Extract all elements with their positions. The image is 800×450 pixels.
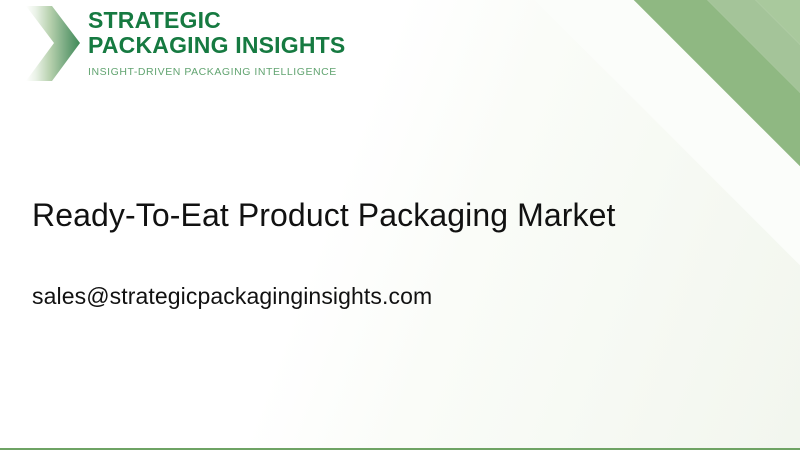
slide-canvas: STRATEGIC PACKAGING INSIGHTS INSIGHT-DRI… (0, 0, 800, 450)
slide-content: Ready-To-Eat Product Packaging Market sa… (32, 192, 632, 310)
logo-tagline: INSIGHT-DRIVEN PACKAGING INTELLIGENCE (88, 66, 345, 78)
logo-wordmark: STRATEGIC PACKAGING INSIGHTS INSIGHT-DRI… (84, 9, 345, 78)
contact-email: sales@strategicpackaginginsights.com (32, 282, 632, 310)
page-title: Ready-To-Eat Product Packaging Market (32, 192, 632, 238)
chevron-logo-mark-icon (22, 0, 84, 87)
logo-line-2: PACKAGING INSIGHTS (88, 34, 345, 57)
logo-line-1: STRATEGIC (88, 9, 345, 32)
company-logo: STRATEGIC PACKAGING INSIGHTS INSIGHT-DRI… (22, 0, 345, 87)
